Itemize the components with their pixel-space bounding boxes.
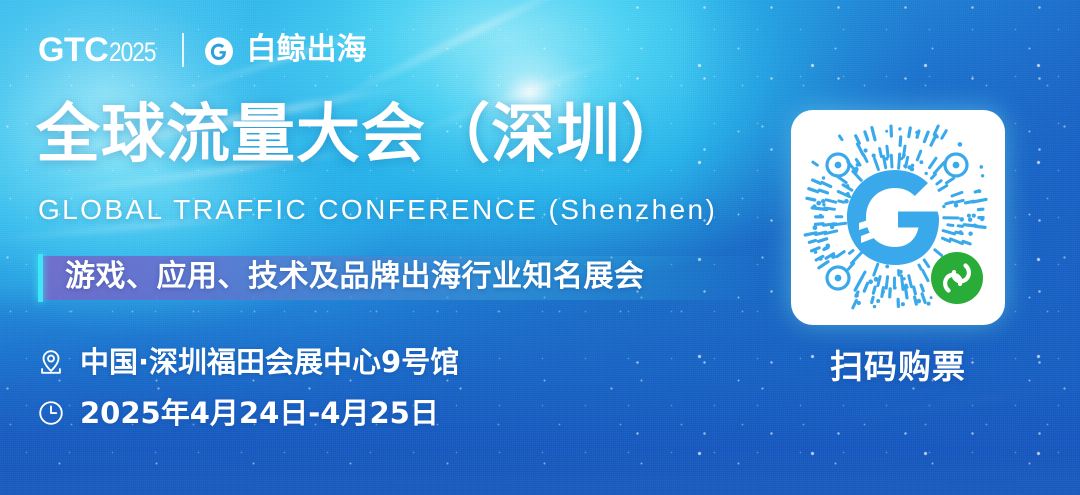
qr-code-card[interactable] <box>791 110 1005 325</box>
gtc-2025-conference-banner: GTC 2025 白鲸出海 全球流量大会（深圳） GLOBAL TRAFFIC … <box>0 0 1080 495</box>
page-title-cn: 全球流量大会（深圳） <box>36 102 686 170</box>
qr-caption-text: 扫码购票 <box>791 350 1005 383</box>
logo-divider <box>182 33 184 67</box>
gtc-logo-word: GTC <box>38 33 108 67</box>
info-location-text: 中国·深圳福田会展中心9号馆 <box>80 348 459 377</box>
wechat-miniprogram-badge-icon <box>931 252 983 304</box>
wechat-miniprogram-qr-code[interactable] <box>791 110 1005 325</box>
info-date-text: 2025年4月24日-4月25日 <box>80 399 439 428</box>
baijing-logo: 白鲸出海 <box>201 32 367 68</box>
tagline-text: 游戏、应用、技术及品牌出海行业知名展会 <box>65 262 645 292</box>
banner-content: GTC 2025 白鲸出海 全球流量大会（深圳） GLOBAL TRAFFIC … <box>0 0 1080 495</box>
info-row-date: 2025年4月24日-4月25日 <box>36 398 439 428</box>
page-title-en: GLOBAL TRAFFIC CONFERENCE (Shenzhen) <box>38 196 717 224</box>
map-pin-icon <box>36 347 66 377</box>
gtc-logo-year: 2025 <box>109 39 155 66</box>
baijing-logo-text: 白鲸出海 <box>247 35 367 65</box>
logo-lockup-row: GTC 2025 白鲸出海 <box>38 27 367 73</box>
tagline-accent-bar <box>38 254 43 302</box>
info-row-location: 中国·深圳福田会展中心9号馆 <box>36 347 459 377</box>
clock-icon <box>36 398 66 428</box>
qr-center-logo <box>847 170 939 265</box>
gtc-logo: GTC 2025 <box>38 33 165 67</box>
whale-g-circle-icon <box>201 32 237 68</box>
